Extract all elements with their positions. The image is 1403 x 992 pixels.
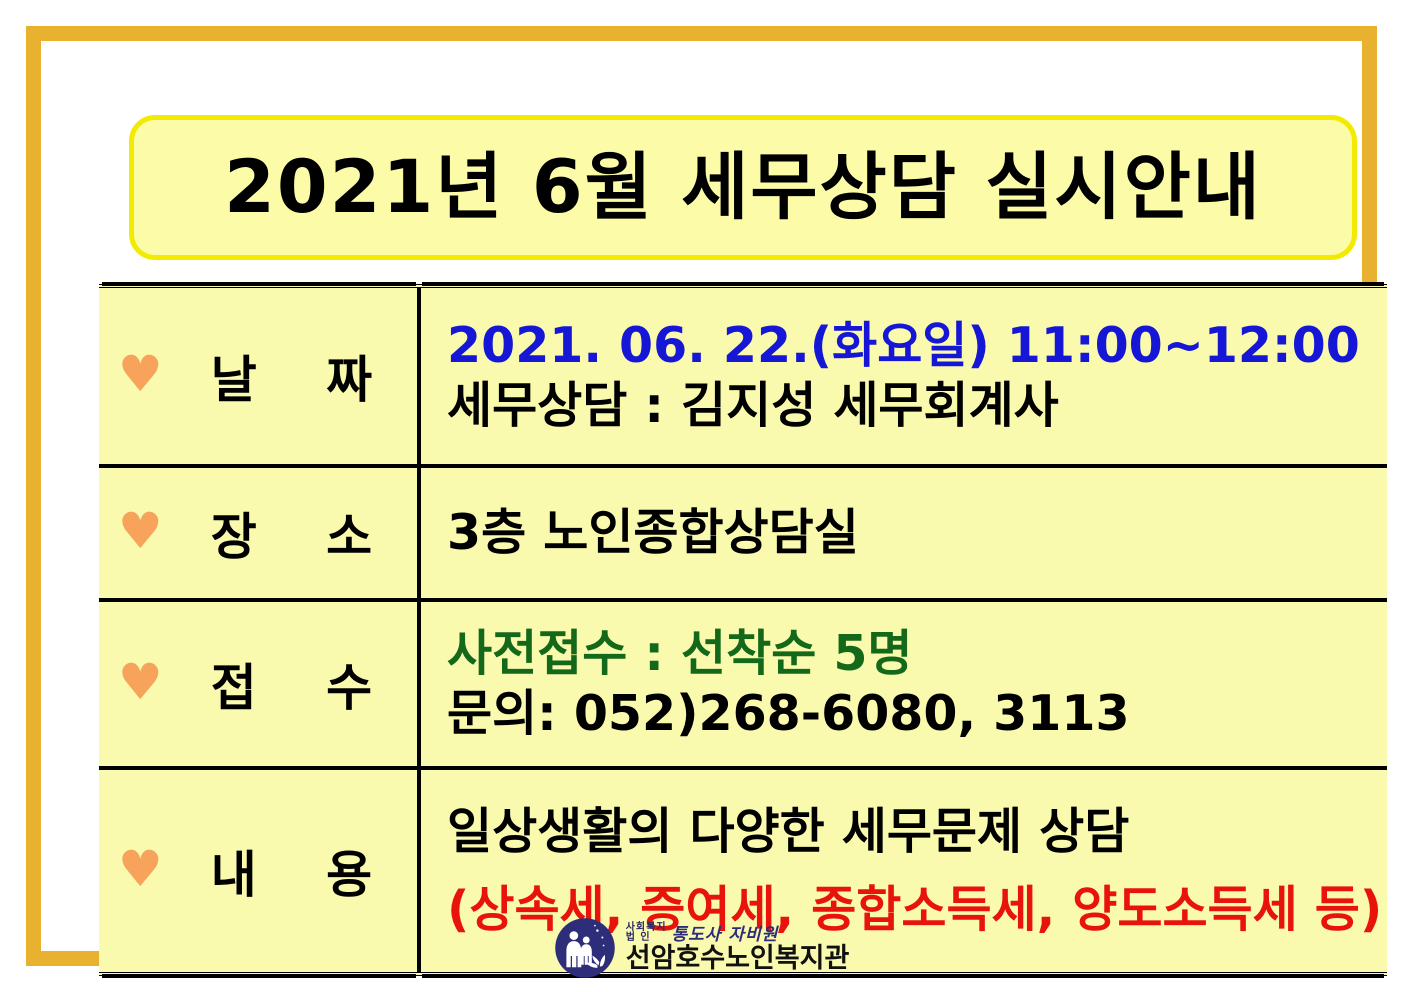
table-row: ♥ 날 짜 2021. 06. 22.(화요일) 11:00~12:00 세무상… (99, 286, 1387, 466)
row-label-place: 장 소 (185, 497, 398, 569)
title-banner: 2021년 6월 세무상담 실시안내 (129, 115, 1357, 260)
row-label-content: 내 용 (185, 835, 398, 907)
place-line: 3층 노인종합상담실 (447, 503, 1387, 563)
logo-top-row: 사회복지 법 인 통도사 자비원 (626, 923, 850, 944)
heart-icon: ♥ (118, 506, 163, 556)
info-table-wrapper: ♥ 날 짜 2021. 06. 22.(화요일) 11:00~12:00 세무상… (99, 284, 1387, 976)
organization-logo-icon (554, 917, 616, 979)
row-value-cell-apply: 사전접수 : 선착순 5명 문의: 052)268-6080, 3113 (419, 600, 1387, 768)
heart-icon: ♥ (118, 844, 163, 894)
logo-center-name: 선암호수노인복지관 (626, 945, 850, 973)
spacer (447, 862, 1387, 880)
row-label-cell-place: ♥ 장 소 (99, 466, 419, 600)
table-row: ♥ 장 소 3층 노인종합상담실 (99, 466, 1387, 600)
footer-logo: 사회복지 법 인 통도사 자비원 선암호수노인복지관 (41, 917, 1362, 979)
row-label-date: 날 짜 (185, 340, 398, 412)
poster-frame: 2021년 6월 세무상담 실시안내 ♥ 날 짜 2021. 06. 22.(화… (26, 26, 1377, 966)
counselor-line: 세무상담 : 김지성 세무회계사 (447, 376, 1387, 436)
registration-line: 사전접수 : 선착순 5명 (447, 624, 1387, 684)
row-value-cell-place: 3층 노인종합상담실 (419, 466, 1387, 600)
content-line: 일상생활의 다양한 세무문제 상담 (447, 802, 1387, 862)
logo-text-block: 사회복지 법 인 통도사 자비원 선암호수노인복지관 (626, 923, 850, 973)
row-label-apply: 접 수 (185, 648, 398, 720)
page-title: 2021년 6월 세무상담 실시안내 (224, 151, 1262, 224)
info-table: ♥ 날 짜 2021. 06. 22.(화요일) 11:00~12:00 세무상… (99, 284, 1387, 976)
logo-brand-name: 통도사 자비원 (672, 927, 779, 944)
date-line: 2021. 06. 22.(화요일) 11:00~12:00 (447, 316, 1387, 376)
logo-corporation-label: 사회복지 법 인 (626, 923, 667, 944)
row-value-cell-date: 2021. 06. 22.(화요일) 11:00~12:00 세무상담 : 김지… (419, 286, 1387, 466)
poster-root: 2021년 6월 세무상담 실시안내 ♥ 날 짜 2021. 06. 22.(화… (0, 0, 1403, 992)
table-row: ♥ 접 수 사전접수 : 선착순 5명 문의: 052)268-6080, 31… (99, 600, 1387, 768)
heart-icon: ♥ (118, 349, 163, 399)
row-label-cell-apply: ♥ 접 수 (99, 600, 419, 768)
row-label-cell-date: ♥ 날 짜 (99, 286, 419, 466)
phone-line: 문의: 052)268-6080, 3113 (447, 684, 1387, 744)
heart-icon: ♥ (118, 657, 163, 707)
